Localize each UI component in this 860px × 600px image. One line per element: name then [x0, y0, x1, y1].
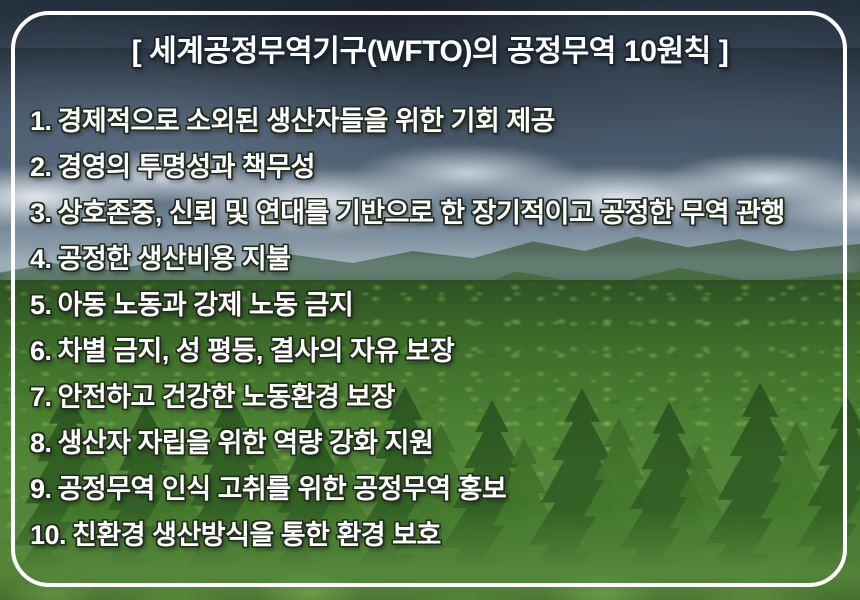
- principle-number: 7.: [30, 382, 52, 412]
- principle-text: 생산자 자립을 위한 역량 강화 지원: [58, 428, 434, 458]
- principles-list: 1.경제적으로 소외된 생산자들을 위한 기회 제공2.경영의 투명성과 책무성…: [30, 98, 842, 558]
- principle-text: 친환경 생산방식을 통한 환경 보호: [72, 520, 441, 550]
- principle-item: 4.공정한 생산비용 지불: [30, 236, 842, 282]
- principle-number: 4.: [30, 244, 52, 274]
- poster-title: [ 세계공정무역기구(WFTO)의 공정무역 10원칙 ]: [0, 26, 860, 70]
- principle-text: 공정한 생산비용 지불: [58, 244, 291, 274]
- poster-canvas: [ 세계공정무역기구(WFTO)의 공정무역 10원칙 ] 1.경제적으로 소외…: [0, 0, 860, 600]
- principle-number: 10.: [30, 520, 66, 550]
- principle-number: 1.: [30, 106, 52, 136]
- principle-item: 10.친환경 생산방식을 통한 환경 보호: [30, 512, 842, 558]
- principle-text: 아동 노동과 강제 노동 금지: [58, 290, 354, 320]
- principle-text: 안전하고 건강한 노동환경 보장: [58, 382, 395, 412]
- text-content-layer: [ 세계공정무역기구(WFTO)의 공정무역 10원칙 ] 1.경제적으로 소외…: [0, 0, 860, 600]
- principle-item: 8.생산자 자립을 위한 역량 강화 지원: [30, 420, 842, 466]
- principle-text: 경영의 투명성과 책무성: [58, 152, 315, 182]
- principle-item: 2.경영의 투명성과 책무성: [30, 144, 842, 190]
- principle-text: 경제적으로 소외된 생산자들을 위한 기회 제공: [58, 106, 555, 136]
- principle-number: 5.: [30, 290, 52, 320]
- principle-item: 6.차별 금지, 성 평등, 결사의 자유 보장: [30, 328, 842, 374]
- principle-item: 9.공정무역 인식 고취를 위한 공정무역 홍보: [30, 466, 842, 512]
- principle-text: 상호존중, 신뢰 및 연대를 기반으로 한 장기적이고 공정한 무역 관행: [58, 198, 785, 228]
- principle-item: 5.아동 노동과 강제 노동 금지: [30, 282, 842, 328]
- principle-item: 3.상호존중, 신뢰 및 연대를 기반으로 한 장기적이고 공정한 무역 관행: [30, 190, 842, 236]
- principle-text: 차별 금지, 성 평등, 결사의 자유 보장: [58, 336, 455, 366]
- principle-text: 공정무역 인식 고취를 위한 공정무역 홍보: [58, 474, 507, 504]
- principle-number: 2.: [30, 152, 52, 182]
- principle-number: 9.: [30, 474, 52, 504]
- principle-number: 8.: [30, 428, 52, 458]
- principle-number: 3.: [30, 198, 52, 228]
- principle-item: 7.안전하고 건강한 노동환경 보장: [30, 374, 842, 420]
- principle-number: 6.: [30, 336, 52, 366]
- principle-item: 1.경제적으로 소외된 생산자들을 위한 기회 제공: [30, 98, 842, 144]
